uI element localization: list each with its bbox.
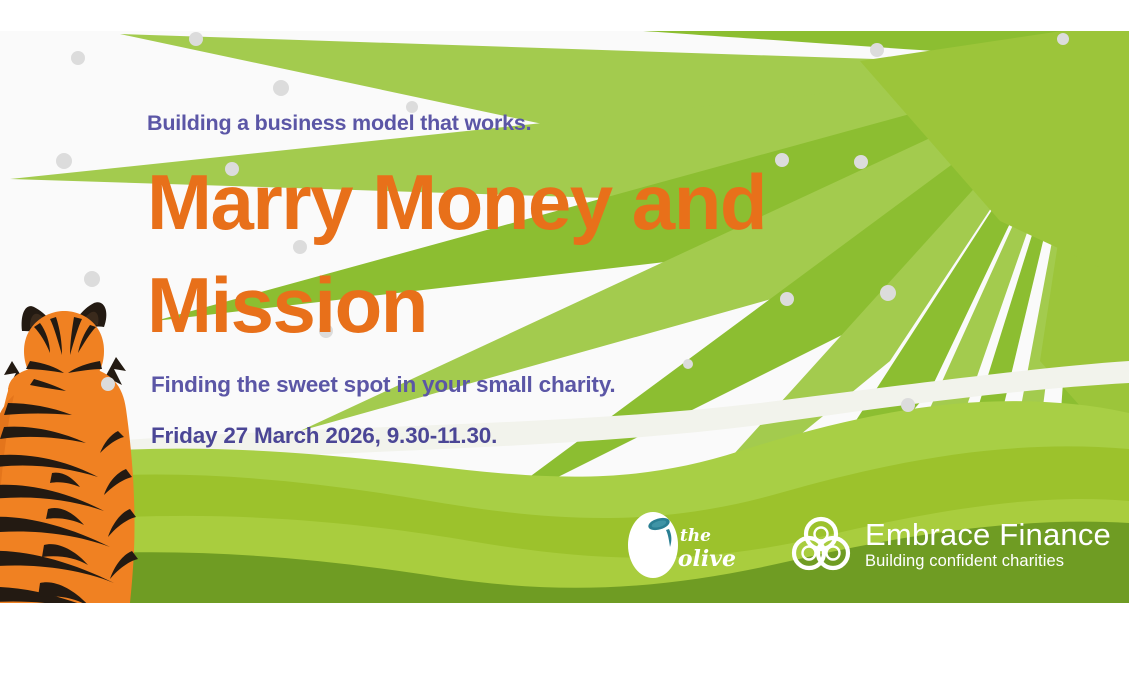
embrace-finance-wordmark: Embrace Finance Building confident chari…	[865, 519, 1111, 570]
top-white-strip	[0, 0, 1129, 32]
banner-datetime: Friday 27 March 2026, 9.30-11.30.	[151, 422, 867, 450]
three-rings-icon	[790, 515, 852, 573]
banner-stage: Building a business model that works. Ma…	[0, 0, 1129, 691]
embrace-finance-tagline: Building confident charities	[865, 553, 1111, 570]
banner-subhead: Finding the sweet spot in your small cha…	[151, 371, 867, 399]
the-olive-logo[interactable]: the olive	[626, 507, 736, 581]
olive-word-olive: olive	[678, 548, 736, 570]
olive-fruit-icon	[626, 507, 682, 581]
embrace-finance-logo[interactable]: Embrace Finance Building confident chari…	[790, 515, 1111, 573]
logo-lockup: the olive	[626, 507, 1111, 581]
olive-word-the: the	[680, 528, 736, 545]
embrace-finance-name: Embrace Finance	[865, 519, 1111, 550]
event-banner: Building a business model that works. Ma…	[0, 31, 1129, 603]
banner-headline: Marry Money and Mission	[147, 151, 847, 357]
bottom-white-strip	[0, 603, 1129, 691]
olive-wordmark: the olive	[680, 528, 736, 570]
banner-text-block: Building a business model that works. Ma…	[147, 111, 867, 450]
banner-eyebrow: Building a business model that works.	[147, 111, 867, 137]
